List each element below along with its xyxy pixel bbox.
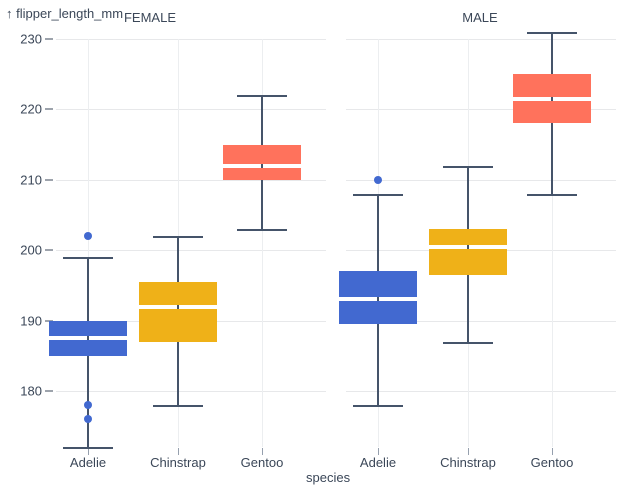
whisker-cap-upper: [353, 194, 403, 196]
box-lower-quartile[interactable]: [223, 168, 301, 180]
y-tick-label: 190: [0, 313, 42, 328]
whisker-cap-lower: [153, 405, 203, 407]
gridline-horizontal: [346, 39, 616, 40]
y-tick-label: 180: [0, 384, 42, 399]
y-tick-label: 230: [0, 32, 42, 47]
x-tick-mark: [178, 448, 179, 455]
x-tick-label-gentoo: Gentoo: [502, 455, 602, 470]
y-tick-mark: [45, 391, 53, 392]
gridline-horizontal: [56, 180, 326, 181]
whisker-cap-lower: [527, 194, 577, 196]
x-tick-mark: [378, 448, 379, 455]
gridline-horizontal: [346, 391, 616, 392]
box-upper-quartile[interactable]: [513, 74, 591, 97]
whisker-cap-lower: [443, 342, 493, 344]
x-tick-label-adelie: Adelie: [38, 455, 138, 470]
y-tick-mark: [45, 39, 53, 40]
box-lower-quartile[interactable]: [513, 101, 591, 124]
box-lower-quartile[interactable]: [429, 249, 507, 275]
box-plot-chart: ↑ flipper_length_mm species FEMALE MALE …: [0, 0, 640, 503]
outlier-point[interactable]: [374, 176, 382, 184]
box-upper-quartile[interactable]: [429, 229, 507, 245]
whisker-cap-lower: [353, 405, 403, 407]
y-tick-label: 200: [0, 243, 42, 258]
whisker-cap-upper: [527, 32, 577, 34]
whisker-cap-lower: [237, 229, 287, 231]
box-upper-quartile[interactable]: [339, 271, 417, 297]
y-tick-label: 210: [0, 172, 42, 187]
gridline-horizontal: [56, 39, 326, 40]
outlier-point[interactable]: [84, 401, 92, 409]
box-upper-quartile[interactable]: [49, 321, 127, 337]
gridline-horizontal: [56, 250, 326, 251]
gridline-horizontal: [346, 180, 616, 181]
x-axis-title: species: [306, 470, 350, 485]
whisker-cap-upper: [63, 257, 113, 259]
whisker-cap-upper: [153, 236, 203, 238]
x-tick-mark: [262, 448, 263, 455]
whisker-cap-upper: [443, 166, 493, 168]
whisker-line: [377, 194, 379, 405]
y-tick-mark: [45, 109, 53, 110]
box-lower-quartile[interactable]: [339, 301, 417, 324]
facet-panel-male: AdelieChinstrapGentoo: [346, 0, 616, 455]
y-tick-label: 220: [0, 102, 42, 117]
x-tick-label-adelie: Adelie: [328, 455, 428, 470]
gridline-horizontal: [56, 391, 326, 392]
gridline-horizontal: [56, 109, 326, 110]
y-tick-mark: [45, 250, 53, 251]
box-upper-quartile[interactable]: [223, 145, 301, 164]
box-lower-quartile[interactable]: [139, 309, 217, 342]
y-tick-mark: [45, 179, 53, 180]
whisker-cap-upper: [237, 95, 287, 97]
x-tick-mark: [552, 448, 553, 455]
box-upper-quartile[interactable]: [139, 282, 217, 305]
outlier-point[interactable]: [84, 232, 92, 240]
box-lower-quartile[interactable]: [49, 340, 127, 356]
x-tick-label-gentoo: Gentoo: [212, 455, 312, 470]
outlier-point[interactable]: [84, 415, 92, 423]
whisker-cap-lower: [63, 447, 113, 449]
facet-panel-female: AdelieChinstrapGentoo: [56, 0, 326, 455]
x-tick-mark: [468, 448, 469, 455]
